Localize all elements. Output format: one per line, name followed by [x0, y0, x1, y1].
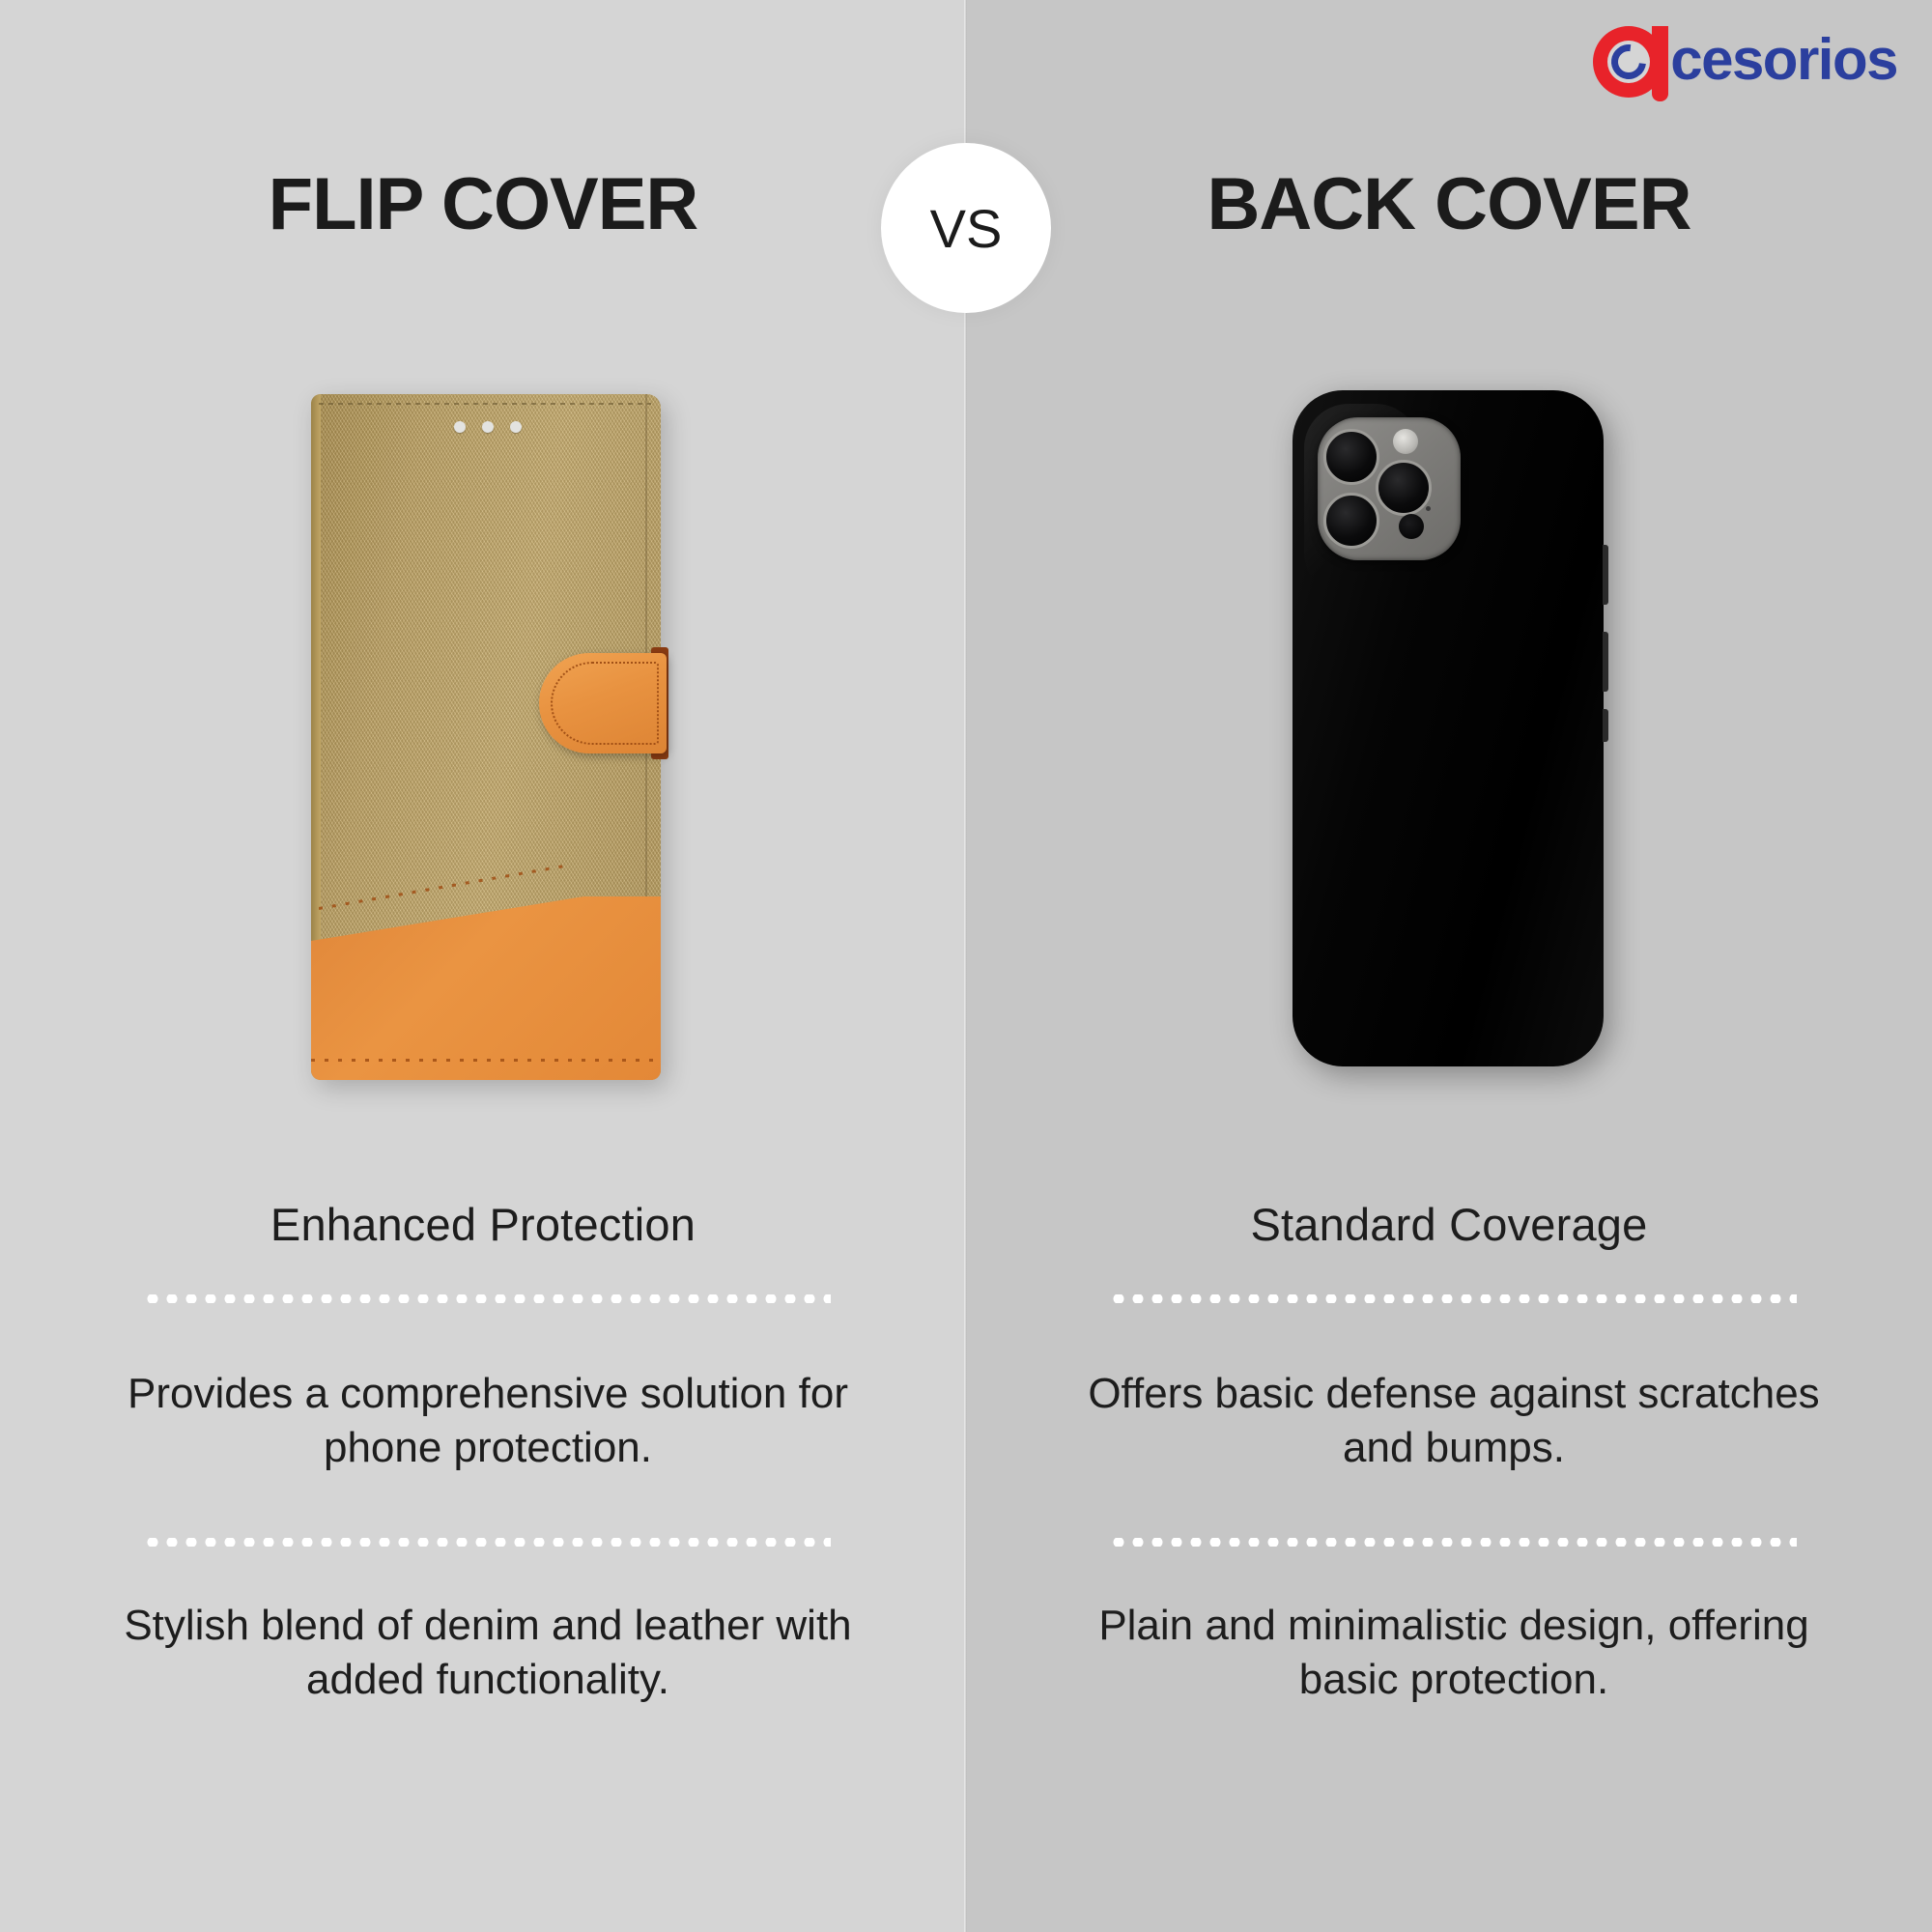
right-feature-text-1: Offers basic defense against scratches a… — [1063, 1367, 1845, 1476]
right-feature-text-2: Plain and minimalistic design, offering … — [1063, 1599, 1845, 1708]
lidar-sensor-icon — [1399, 514, 1424, 539]
right-divider-1 — [1109, 1294, 1797, 1303]
flip-cover-product-image — [311, 394, 661, 1080]
camera-module-icon — [1318, 417, 1461, 560]
comparison-infographic: cesorios FLIP COVER BACK COVER VS — [0, 0, 1932, 1932]
back-cover-case-body — [1293, 390, 1604, 1066]
camera-lens-icon — [1323, 429, 1379, 485]
silent-switch-button — [1603, 545, 1608, 605]
flip-cover-angled-stitching — [319, 864, 569, 910]
right-feature-title: Standard Coverage — [966, 1198, 1932, 1251]
camera-flash-icon — [1393, 429, 1418, 454]
left-divider-2 — [143, 1538, 831, 1547]
brand-logo-text: cesorios — [1670, 31, 1897, 89]
right-divider-2 — [1109, 1538, 1797, 1547]
left-feature-text-2: Stylish blend of denim and leather with … — [97, 1599, 879, 1708]
flip-cover-bottom-stitching — [311, 896, 661, 1080]
left-feature-title: Enhanced Protection — [0, 1198, 966, 1251]
right-product-heading: BACK COVER — [966, 162, 1932, 246]
flip-cover-magnetic-clasp — [539, 653, 667, 753]
camera-lens-icon — [1376, 460, 1432, 516]
microphone-dot-icon — [1426, 506, 1431, 511]
volume-down-button — [1603, 709, 1608, 742]
volume-up-button — [1603, 632, 1608, 692]
brand-logo: cesorios — [1593, 21, 1897, 99]
left-feature-text-1: Provides a comprehensive solution for ph… — [97, 1367, 879, 1476]
back-cover-product-image — [1293, 390, 1604, 1066]
camera-lens-icon — [1323, 493, 1379, 549]
left-product-heading: FLIP COVER — [0, 162, 966, 246]
flip-cover-top-stitching — [319, 403, 651, 405]
flip-cover-magnet-dots — [454, 421, 522, 433]
left-divider-1 — [143, 1294, 831, 1303]
versus-badge: VS — [881, 143, 1051, 313]
acesorios-logo-icon — [1593, 22, 1668, 98]
